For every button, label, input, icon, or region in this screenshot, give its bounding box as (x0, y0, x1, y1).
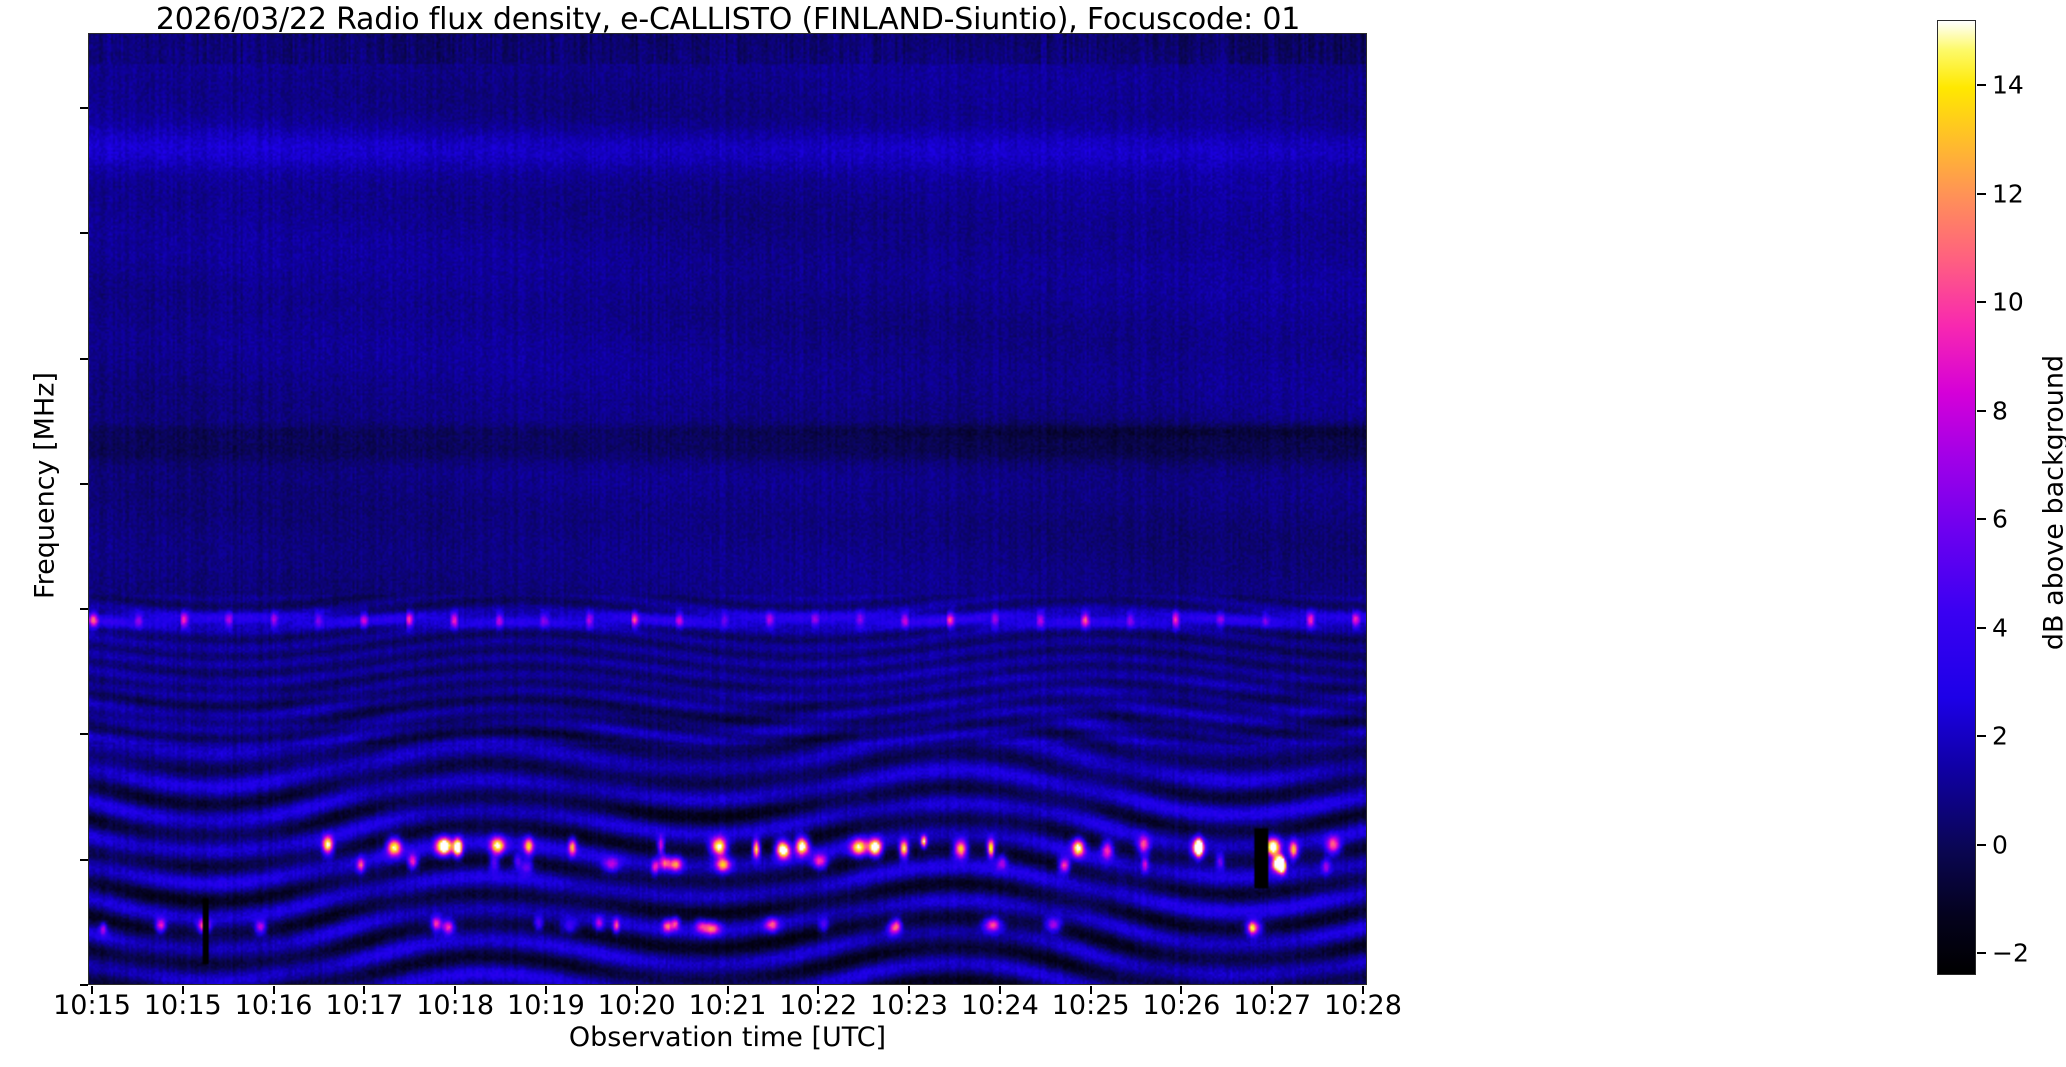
y-tick-mark (80, 608, 88, 610)
x-tick-mark (636, 986, 638, 994)
y-tick-mark (80, 984, 88, 986)
x-tick-label: 10:15 (53, 990, 131, 1021)
x-tick-label: 10:20 (598, 990, 676, 1021)
x-axis-label: Observation time [UTC] (88, 1022, 1367, 1053)
x-tick-label: 10:27 (1233, 990, 1311, 1021)
x-tick-mark (454, 986, 456, 994)
x-tick-mark (273, 986, 275, 994)
x-tick-mark (1362, 986, 1364, 994)
colorbar-tick-mark (1977, 627, 1986, 629)
colorbar-tick-mark (1977, 84, 1986, 86)
x-tick-label: 10:16 (235, 990, 313, 1021)
x-tick-label: 10:24 (961, 990, 1039, 1021)
x-tick-mark (817, 986, 819, 994)
colorbar-tick-mark (1977, 301, 1986, 303)
colorbar-tick-mark (1977, 193, 1986, 195)
colorbar-tick-mark (1977, 518, 1986, 520)
y-tick-mark (80, 859, 88, 861)
colorbar-tick-label: −2 (1992, 939, 2029, 968)
x-tick-label: 10:25 (1052, 990, 1130, 1021)
x-tick-mark (182, 986, 184, 994)
colorbar (1937, 20, 1976, 975)
x-tick-mark (908, 986, 910, 994)
x-tick-label: 10:15 (144, 990, 222, 1021)
x-tick-mark (727, 986, 729, 994)
colorbar-tick-mark (1977, 410, 1986, 412)
colorbar-tick-mark (1977, 952, 1986, 954)
spectrogram-plot-area[interactable] (88, 33, 1367, 985)
x-tick-label: 10:28 (1324, 990, 1402, 1021)
x-tick-mark (1090, 986, 1092, 994)
colorbar-tick-label: 6 (1992, 505, 2008, 534)
x-tick-label: 10:17 (325, 990, 403, 1021)
y-tick-mark (80, 107, 88, 109)
x-tick-mark (1271, 986, 1273, 994)
colorbar-tick-label: 10 (1992, 288, 2024, 317)
x-tick-label: 10:26 (1143, 990, 1221, 1021)
x-tick-mark (363, 986, 365, 994)
x-tick-label: 10:19 (507, 990, 585, 1021)
colorbar-tick-label: 2 (1992, 722, 2008, 751)
x-tick-mark (999, 986, 1001, 994)
y-tick-mark (80, 358, 88, 360)
colorbar-tick-mark (1977, 844, 1986, 846)
x-tick-mark (91, 986, 93, 994)
x-tick-label: 10:21 (689, 990, 767, 1021)
spectrogram-canvas (89, 34, 1366, 984)
spectrogram-figure: 2026/03/22 Radio flux density, e-CALLIST… (0, 0, 2066, 1067)
colorbar-tick-label: 12 (1992, 179, 2024, 208)
y-tick-mark (80, 733, 88, 735)
colorbar-label: dB above background (2039, 223, 2066, 783)
colorbar-tick-label: 8 (1992, 396, 2008, 425)
colorbar-tick-label: 4 (1992, 613, 2008, 642)
y-axis-label: Frequency [MHz] (30, 186, 61, 786)
x-tick-label: 10:18 (416, 990, 494, 1021)
colorbar-tick-label: 14 (1992, 71, 2024, 100)
x-tick-label: 10:23 (870, 990, 948, 1021)
y-tick-mark (80, 232, 88, 234)
colorbar-tick-mark (1977, 735, 1986, 737)
x-tick-mark (545, 986, 547, 994)
x-tick-mark (1180, 986, 1182, 994)
y-tick-mark (80, 483, 88, 485)
page-title: 2026/03/22 Radio flux density, e-CALLIST… (0, 2, 1456, 37)
colorbar-tick-label: 0 (1992, 830, 2008, 859)
x-tick-label: 10:22 (779, 990, 857, 1021)
